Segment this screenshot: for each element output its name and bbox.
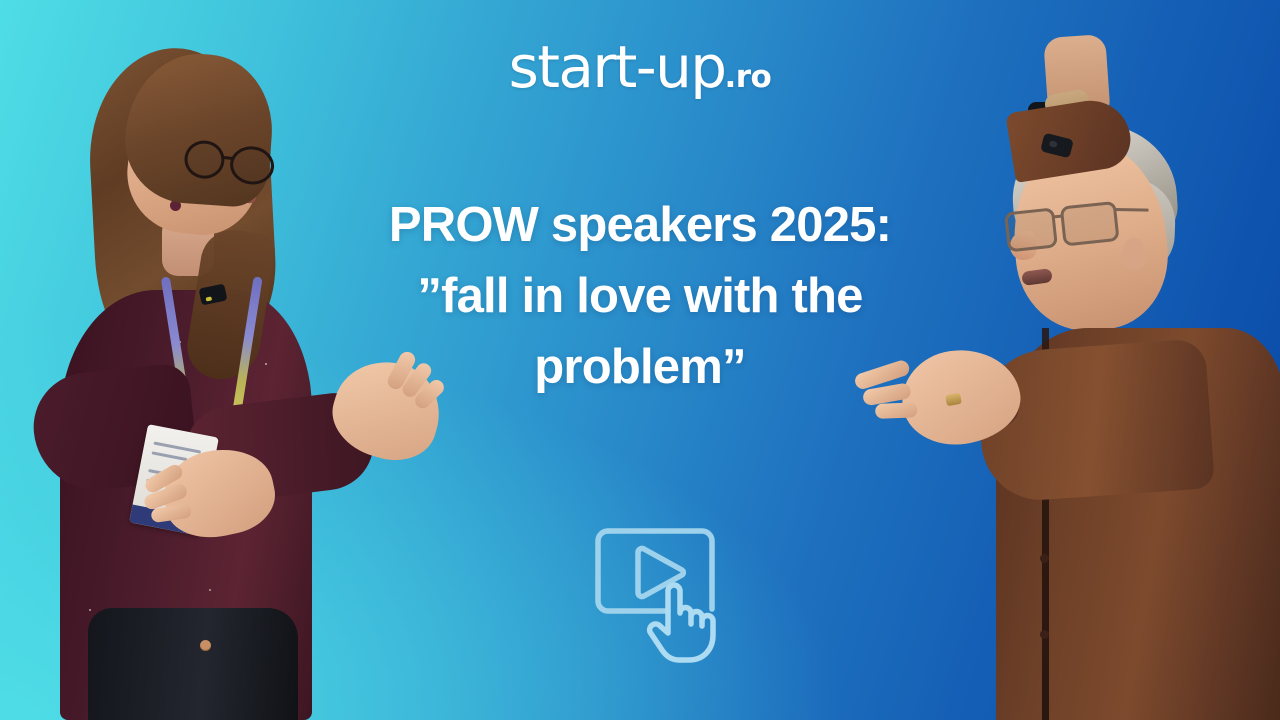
pants xyxy=(88,608,298,720)
glasses-lens-right xyxy=(228,144,276,187)
play-video-button[interactable] xyxy=(586,505,746,665)
headline-line-3: problem” xyxy=(320,332,960,403)
pants-button xyxy=(200,640,211,651)
glasses-bridge xyxy=(224,156,234,160)
man-speaker xyxy=(950,110,1280,720)
glasses-lens-right xyxy=(1060,201,1120,247)
brand-logo-word: start-up xyxy=(509,33,726,101)
glasses-lens-left xyxy=(182,138,226,181)
glasses-lens-left xyxy=(1004,207,1058,252)
headline-line-2: ”fall in love with the xyxy=(320,261,960,332)
glasses-temple xyxy=(1114,208,1148,212)
play-icon[interactable] xyxy=(586,505,746,665)
headline-line-1: PROW speakers 2025: xyxy=(320,190,960,261)
page-title: PROW speakers 2025: ”fall in love with t… xyxy=(320,190,960,403)
video-thumbnail[interactable]: start-up.ro PROW speakers 2025: ”fall in… xyxy=(0,0,1280,720)
brand-logo[interactable]: start-up.ro xyxy=(0,33,1280,101)
brand-logo-tld: .ro xyxy=(724,59,771,95)
click-hand-icon xyxy=(650,585,713,660)
